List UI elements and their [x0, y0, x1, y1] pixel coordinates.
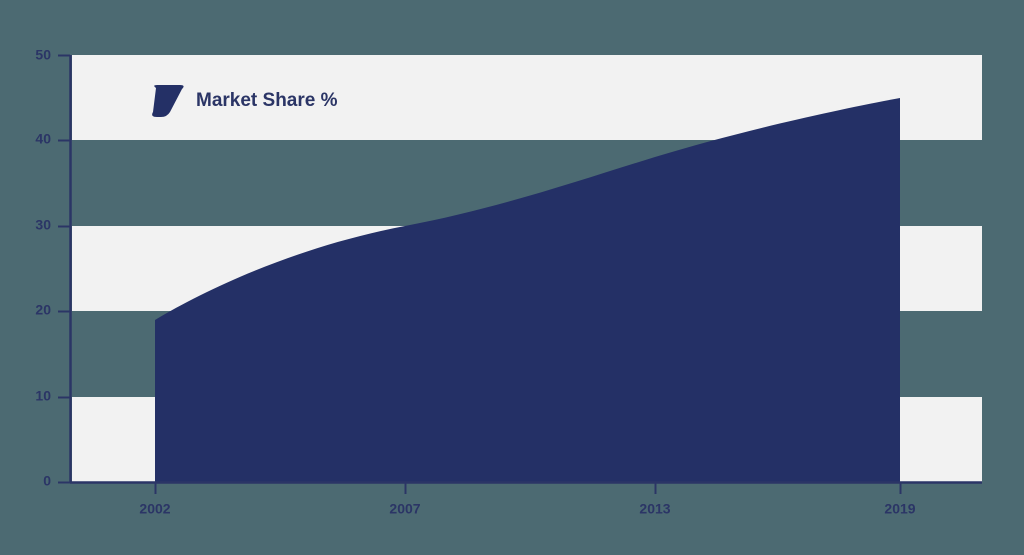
area-fill-market-share	[155, 98, 900, 482]
y-tick-label-0: 0	[43, 473, 51, 489]
y-axis-ticks	[58, 56, 70, 483]
y-tick-label-10: 10	[35, 388, 51, 404]
y-tick-label-30: 30	[35, 217, 51, 233]
x-tick-label-2007: 2007	[389, 500, 420, 516]
y-tick-label-40: 40	[35, 131, 51, 147]
series-market-share	[155, 98, 900, 482]
y-tick-label-50: 50	[35, 47, 51, 63]
x-tick-label-2002: 2002	[139, 500, 170, 516]
x-tick-label-2019: 2019	[884, 500, 915, 516]
legend-label-market-share: Market Share %	[196, 90, 338, 111]
y-tick-label-20: 20	[35, 302, 51, 318]
x-tick-label-2013: 2013	[639, 500, 670, 516]
chart-canvas: 0 10 20 30 40 50 2002 2007 2013 2019 Mar…	[0, 0, 1024, 555]
area-chart: 0 10 20 30 40 50 2002 2007 2013 2019 Mar…	[0, 0, 1024, 555]
y-axis-tick-labels: 0 10 20 30 40 50	[35, 47, 51, 489]
x-axis-ticks	[156, 483, 901, 494]
x-axis-tick-labels: 2002 2007 2013 2019	[139, 500, 915, 516]
